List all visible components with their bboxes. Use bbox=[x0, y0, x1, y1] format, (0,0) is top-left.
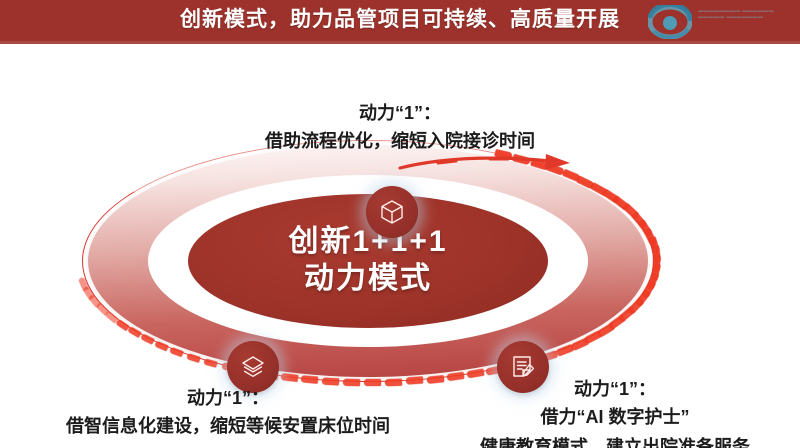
callout-top: 动力“1”： 借助流程优化，缩短入院接诊时间 bbox=[150, 100, 650, 156]
cube-icon bbox=[379, 199, 405, 225]
badge-top[interactable] bbox=[366, 186, 418, 238]
callout-left-title: 动力“1”： bbox=[18, 385, 438, 411]
slide-canvas: 创新模式，助力品管项目可持续、高质量开展 ▬▬▬▬▬▬▬▬ ▬▬▬▬▬▬ ▬▬▬… bbox=[0, 0, 800, 448]
callout-right-body-2: 健康教育模式，建立出院准备服务 bbox=[430, 432, 800, 448]
callout-right: 动力“1”： 借力“AI 数字护士” 健康教育模式，建立出院准备服务 bbox=[430, 376, 800, 448]
callout-top-body: 借助流程优化，缩短入院接诊时间 bbox=[150, 126, 650, 156]
header-bar: 创新模式，助力品管项目可持续、高质量开展 ▬▬▬▬▬▬▬▬ ▬▬▬▬▬▬ ▬▬▬… bbox=[0, 0, 800, 44]
center-label-line2: 动力模式 bbox=[304, 261, 432, 298]
layers-icon bbox=[240, 354, 266, 380]
callout-right-body-1: 借力“AI 数字护士” bbox=[430, 402, 800, 432]
center-label-line1: 创新1+1+1 bbox=[288, 224, 447, 261]
callout-left-body: 借智信息化建设，缩短等候安置床位时间 bbox=[18, 411, 438, 441]
diagram-stage: 创新1+1+1 动力模式 bbox=[0, 44, 800, 448]
logo-watermark-text: ▬▬▬▬▬▬▬▬ ▬▬▬▬▬▬ ▬▬▬▬▬ ▬▬▬▬▬▬▬ bbox=[698, 8, 794, 36]
callout-right-title: 动力“1”： bbox=[430, 376, 800, 402]
logo-eye-icon bbox=[648, 5, 692, 39]
callout-top-title: 动力“1”： bbox=[150, 100, 650, 126]
header-logo: ▬▬▬▬▬▬▬▬ ▬▬▬▬▬▬ ▬▬▬▬▬ ▬▬▬▬▬▬▬ bbox=[648, 3, 794, 41]
top-arrow-head-icon bbox=[398, 152, 588, 180]
callout-left: 动力“1”： 借智信息化建设，缩短等候安置床位时间 bbox=[18, 385, 438, 441]
